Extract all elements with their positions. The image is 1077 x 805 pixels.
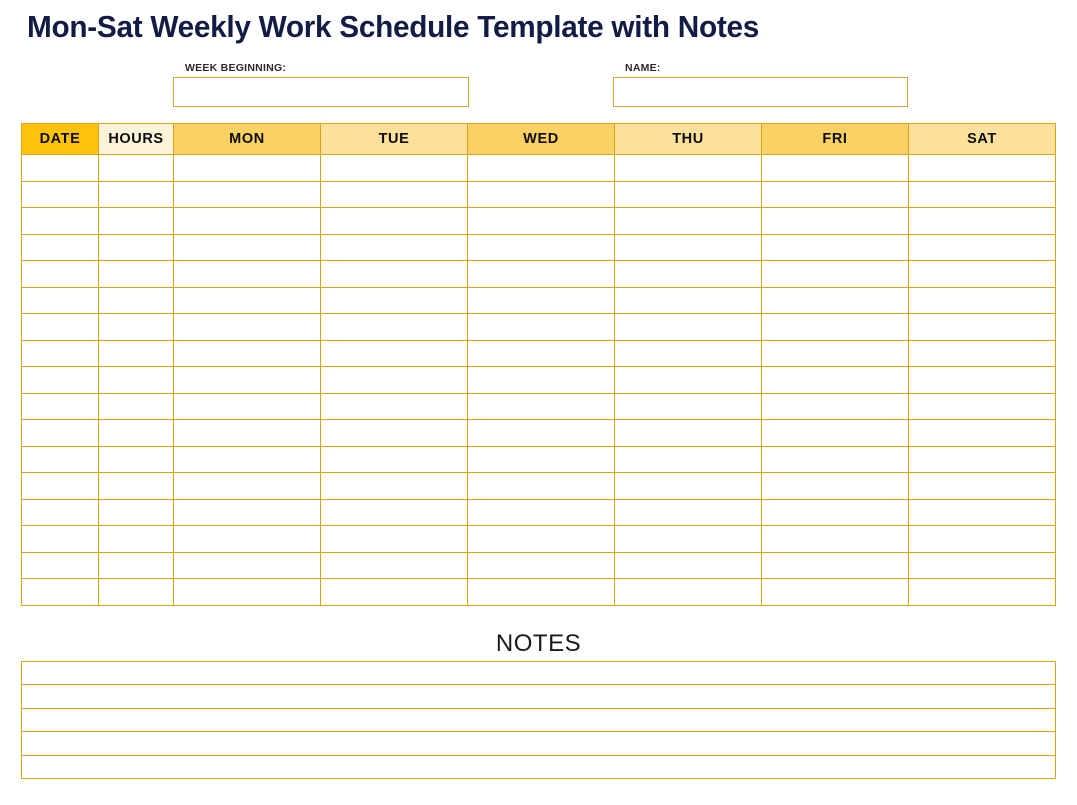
schedule-cell-tue[interactable] — [321, 261, 468, 288]
schedule-cell-sat[interactable] — [909, 340, 1056, 367]
schedule-cell-tue[interactable] — [321, 552, 468, 579]
schedule-cell-sat[interactable] — [909, 287, 1056, 314]
schedule-cell-wed[interactable] — [468, 208, 615, 235]
schedule-cell-mon[interactable] — [174, 234, 321, 261]
schedule-cell-hours[interactable] — [99, 526, 174, 553]
schedule-cell-mon[interactable] — [174, 446, 321, 473]
schedule-cell-date[interactable] — [22, 473, 99, 500]
schedule-cell-tue[interactable] — [321, 526, 468, 553]
schedule-cell-thu[interactable] — [615, 367, 762, 394]
schedule-cell-wed[interactable] — [468, 473, 615, 500]
notes-row — [22, 685, 1056, 708]
schedule-row — [22, 446, 1056, 473]
schedule-cell-mon[interactable] — [174, 367, 321, 394]
form-fields-row: WEEK BEGINNING: NAME: — [0, 62, 1077, 114]
column-header-thu: THU — [615, 124, 762, 155]
schedule-cell-date[interactable] — [22, 314, 99, 341]
schedule-cell-wed[interactable] — [468, 181, 615, 208]
notes-section-title: NOTES — [0, 630, 1077, 658]
schedule-cell-mon[interactable] — [174, 499, 321, 526]
schedule-cell-date[interactable] — [22, 261, 99, 288]
schedule-cell-thu[interactable] — [615, 261, 762, 288]
schedule-cell-wed[interactable] — [468, 314, 615, 341]
schedule-row — [22, 420, 1056, 447]
schedule-table-head: DATEHOURSMONTUEWEDTHUFRISAT — [22, 124, 1056, 155]
notes-cell[interactable] — [22, 662, 1056, 685]
schedule-row — [22, 155, 1056, 182]
schedule-cell-date[interactable] — [22, 552, 99, 579]
schedule-cell-mon[interactable] — [174, 314, 321, 341]
schedule-cell-tue[interactable] — [321, 499, 468, 526]
notes-cell[interactable] — [22, 732, 1056, 755]
schedule-cell-fri[interactable] — [762, 181, 909, 208]
schedule-row — [22, 314, 1056, 341]
name-input[interactable] — [613, 77, 908, 107]
schedule-cell-fri[interactable] — [762, 499, 909, 526]
schedule-cell-hours[interactable] — [99, 340, 174, 367]
column-header-mon: MON — [174, 124, 321, 155]
week-beginning-field-group: WEEK BEGINNING: — [173, 62, 469, 107]
notes-row — [22, 662, 1056, 685]
schedule-cell-fri[interactable] — [762, 367, 909, 394]
schedule-row — [22, 234, 1056, 261]
schedule-cell-wed[interactable] — [468, 155, 615, 182]
schedule-cell-wed[interactable] — [468, 579, 615, 606]
schedule-table-body — [22, 155, 1056, 606]
schedule-row — [22, 552, 1056, 579]
column-header-tue: TUE — [321, 124, 468, 155]
schedule-cell-mon[interactable] — [174, 420, 321, 447]
schedule-cell-date[interactable] — [22, 234, 99, 261]
schedule-cell-mon[interactable] — [174, 473, 321, 500]
schedule-cell-fri[interactable] — [762, 420, 909, 447]
schedule-cell-hours[interactable] — [99, 420, 174, 447]
schedule-cell-fri[interactable] — [762, 446, 909, 473]
schedule-row — [22, 287, 1056, 314]
schedule-row — [22, 579, 1056, 606]
notes-row — [22, 732, 1056, 755]
schedule-cell-fri[interactable] — [762, 155, 909, 182]
schedule-cell-fri[interactable] — [762, 393, 909, 420]
schedule-cell-wed[interactable] — [468, 446, 615, 473]
schedule-cell-hours[interactable] — [99, 208, 174, 235]
schedule-cell-wed[interactable] — [468, 552, 615, 579]
schedule-cell-mon[interactable] — [174, 155, 321, 182]
schedule-cell-date[interactable] — [22, 393, 99, 420]
schedule-cell-sat[interactable] — [909, 420, 1056, 447]
schedule-cell-tue[interactable] — [321, 314, 468, 341]
notes-row — [22, 755, 1056, 778]
schedule-cell-tue[interactable] — [321, 155, 468, 182]
schedule-cell-hours[interactable] — [99, 287, 174, 314]
schedule-cell-tue[interactable] — [321, 181, 468, 208]
schedule-cell-hours[interactable] — [99, 181, 174, 208]
weekly-schedule-table: DATEHOURSMONTUEWEDTHUFRISAT — [21, 123, 1056, 606]
schedule-cell-sat[interactable] — [909, 446, 1056, 473]
schedule-cell-sat[interactable] — [909, 552, 1056, 579]
schedule-row — [22, 208, 1056, 235]
column-header-hours: HOURS — [99, 124, 174, 155]
schedule-cell-wed[interactable] — [468, 367, 615, 394]
schedule-cell-fri[interactable] — [762, 552, 909, 579]
schedule-cell-tue[interactable] — [321, 473, 468, 500]
schedule-cell-wed[interactable] — [468, 287, 615, 314]
schedule-row — [22, 261, 1056, 288]
notes-row — [22, 708, 1056, 731]
schedule-cell-hours[interactable] — [99, 579, 174, 606]
schedule-header-row: DATEHOURSMONTUEWEDTHUFRISAT — [22, 124, 1056, 155]
schedule-cell-mon[interactable] — [174, 340, 321, 367]
schedule-cell-thu[interactable] — [615, 526, 762, 553]
schedule-row — [22, 367, 1056, 394]
schedule-cell-sat[interactable] — [909, 208, 1056, 235]
schedule-cell-mon[interactable] — [174, 287, 321, 314]
schedule-cell-fri[interactable] — [762, 208, 909, 235]
notes-table — [21, 661, 1056, 779]
schedule-cell-tue[interactable] — [321, 287, 468, 314]
schedule-cell-hours[interactable] — [99, 155, 174, 182]
schedule-cell-hours[interactable] — [99, 552, 174, 579]
schedule-cell-sat[interactable] — [909, 261, 1056, 288]
schedule-cell-thu[interactable] — [615, 473, 762, 500]
schedule-cell-hours[interactable] — [99, 367, 174, 394]
schedule-row — [22, 499, 1056, 526]
schedule-cell-sat[interactable] — [909, 314, 1056, 341]
schedule-cell-thu[interactable] — [615, 499, 762, 526]
column-header-wed: WED — [468, 124, 615, 155]
name-label: NAME: — [625, 62, 908, 75]
schedule-cell-thu[interactable] — [615, 314, 762, 341]
notes-cell[interactable] — [22, 755, 1056, 778]
week-beginning-label: WEEK BEGINNING: — [185, 62, 469, 75]
schedule-cell-fri[interactable] — [762, 234, 909, 261]
schedule-cell-mon[interactable] — [174, 579, 321, 606]
schedule-cell-sat[interactable] — [909, 499, 1056, 526]
schedule-cell-thu[interactable] — [615, 552, 762, 579]
schedule-row — [22, 340, 1056, 367]
schedule-cell-thu[interactable] — [615, 579, 762, 606]
notes-cell[interactable] — [22, 685, 1056, 708]
schedule-cell-fri[interactable] — [762, 473, 909, 500]
schedule-cell-fri[interactable] — [762, 261, 909, 288]
schedule-cell-hours[interactable] — [99, 446, 174, 473]
schedule-cell-sat[interactable] — [909, 579, 1056, 606]
schedule-row — [22, 181, 1056, 208]
schedule-cell-date[interactable] — [22, 155, 99, 182]
schedule-cell-date[interactable] — [22, 340, 99, 367]
schedule-cell-date[interactable] — [22, 287, 99, 314]
schedule-cell-hours[interactable] — [99, 473, 174, 500]
page-title: Mon-Sat Weekly Work Schedule Template wi… — [27, 9, 759, 45]
schedule-cell-tue[interactable] — [321, 446, 468, 473]
schedule-cell-sat[interactable] — [909, 181, 1056, 208]
schedule-cell-thu[interactable] — [615, 208, 762, 235]
schedule-cell-wed[interactable] — [468, 234, 615, 261]
schedule-cell-sat[interactable] — [909, 155, 1056, 182]
schedule-cell-date[interactable] — [22, 526, 99, 553]
schedule-cell-wed[interactable] — [468, 393, 615, 420]
schedule-cell-thu[interactable] — [615, 155, 762, 182]
schedule-cell-date[interactable] — [22, 579, 99, 606]
schedule-cell-sat[interactable] — [909, 367, 1056, 394]
schedule-cell-wed[interactable] — [468, 340, 615, 367]
schedule-cell-tue[interactable] — [321, 367, 468, 394]
schedule-cell-date[interactable] — [22, 420, 99, 447]
schedule-cell-date[interactable] — [22, 446, 99, 473]
schedule-cell-tue[interactable] — [321, 579, 468, 606]
schedule-cell-hours[interactable] — [99, 499, 174, 526]
schedule-cell-sat[interactable] — [909, 393, 1056, 420]
schedule-cell-hours[interactable] — [99, 314, 174, 341]
schedule-cell-mon[interactable] — [174, 526, 321, 553]
schedule-cell-thu[interactable] — [615, 234, 762, 261]
schedule-cell-fri[interactable] — [762, 314, 909, 341]
schedule-cell-fri[interactable] — [762, 526, 909, 553]
column-header-sat: SAT — [909, 124, 1056, 155]
schedule-cell-tue[interactable] — [321, 208, 468, 235]
schedule-cell-sat[interactable] — [909, 234, 1056, 261]
schedule-cell-hours[interactable] — [99, 261, 174, 288]
schedule-cell-wed[interactable] — [468, 499, 615, 526]
column-header-date: DATE — [22, 124, 99, 155]
schedule-cell-mon[interactable] — [174, 181, 321, 208]
schedule-cell-tue[interactable] — [321, 393, 468, 420]
schedule-cell-date[interactable] — [22, 208, 99, 235]
schedule-cell-thu[interactable] — [615, 420, 762, 447]
schedule-cell-thu[interactable] — [615, 181, 762, 208]
schedule-cell-thu[interactable] — [615, 446, 762, 473]
schedule-cell-tue[interactable] — [321, 234, 468, 261]
schedule-cell-tue[interactable] — [321, 340, 468, 367]
schedule-row — [22, 526, 1056, 553]
schedule-cell-mon[interactable] — [174, 552, 321, 579]
schedule-cell-thu[interactable] — [615, 393, 762, 420]
schedule-cell-fri[interactable] — [762, 579, 909, 606]
schedule-cell-sat[interactable] — [909, 473, 1056, 500]
schedule-cell-fri[interactable] — [762, 287, 909, 314]
schedule-cell-mon[interactable] — [174, 261, 321, 288]
schedule-cell-wed[interactable] — [468, 526, 615, 553]
notes-table-body — [22, 662, 1056, 779]
schedule-cell-tue[interactable] — [321, 420, 468, 447]
schedule-cell-wed[interactable] — [468, 420, 615, 447]
schedule-cell-date[interactable] — [22, 181, 99, 208]
column-header-fri: FRI — [762, 124, 909, 155]
schedule-cell-fri[interactable] — [762, 340, 909, 367]
schedule-cell-mon[interactable] — [174, 393, 321, 420]
schedule-cell-wed[interactable] — [468, 261, 615, 288]
schedule-cell-hours[interactable] — [99, 234, 174, 261]
schedule-cell-sat[interactable] — [909, 526, 1056, 553]
notes-cell[interactable] — [22, 708, 1056, 731]
schedule-cell-date[interactable] — [22, 367, 99, 394]
schedule-cell-date[interactable] — [22, 499, 99, 526]
schedule-cell-thu[interactable] — [615, 287, 762, 314]
schedule-row — [22, 393, 1056, 420]
schedule-cell-thu[interactable] — [615, 340, 762, 367]
week-beginning-input[interactable] — [173, 77, 469, 107]
schedule-row — [22, 473, 1056, 500]
schedule-cell-hours[interactable] — [99, 393, 174, 420]
name-field-group: NAME: — [613, 62, 908, 107]
schedule-cell-mon[interactable] — [174, 208, 321, 235]
